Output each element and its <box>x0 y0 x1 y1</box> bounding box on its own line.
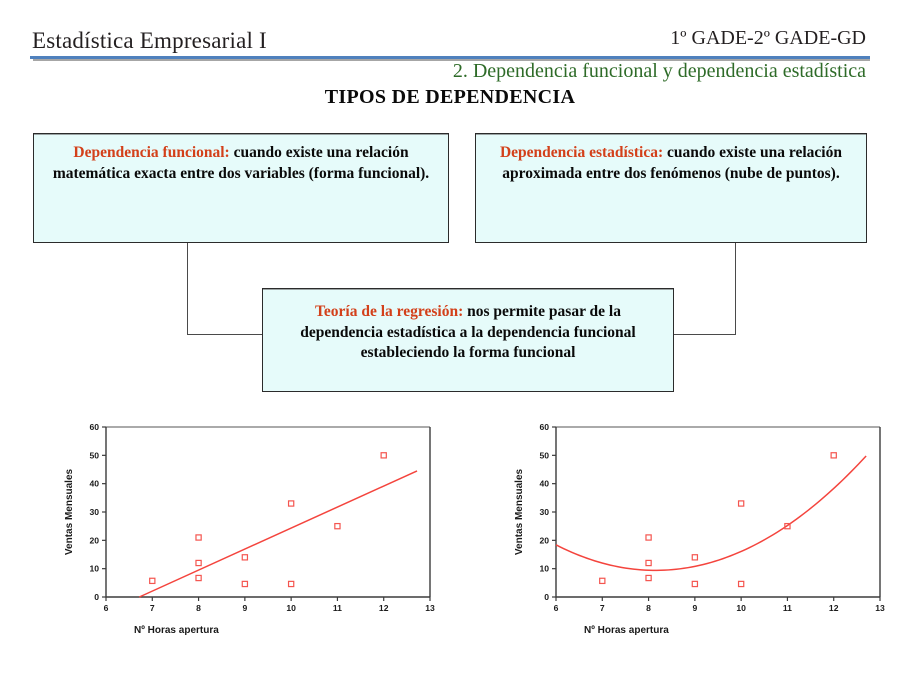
svg-text:60: 60 <box>539 422 549 432</box>
svg-text:11: 11 <box>333 603 342 613</box>
svg-text:Nº Horas apertura: Nº Horas apertura <box>584 625 669 636</box>
concept-box-statistical-lead: Dependencia estadística: <box>500 144 663 161</box>
svg-text:8: 8 <box>196 603 201 613</box>
svg-text:50: 50 <box>539 450 549 460</box>
svg-text:9: 9 <box>692 603 697 613</box>
svg-text:20: 20 <box>539 535 549 545</box>
svg-text:10: 10 <box>736 603 746 613</box>
connector-functional-vertical <box>187 243 188 335</box>
svg-text:7: 7 <box>600 603 605 613</box>
svg-text:40: 40 <box>89 479 99 489</box>
svg-text:7: 7 <box>150 603 155 613</box>
svg-text:10: 10 <box>539 564 549 574</box>
concept-box-statistical: Dependencia estadística: cuando existe u… <box>475 133 867 243</box>
concept-box-regression: Teoría de la regresión: nos permite pasa… <box>262 288 674 392</box>
svg-text:6: 6 <box>554 603 559 613</box>
connector-statistical-horizontal <box>673 334 736 335</box>
svg-text:10: 10 <box>286 603 296 613</box>
svg-text:Nº Horas apertura: Nº Horas apertura <box>134 625 219 636</box>
svg-text:40: 40 <box>539 479 549 489</box>
svg-text:8: 8 <box>646 603 651 613</box>
scatter-chart-linear: 0102030405060678910111213Nº Horas apertu… <box>38 415 438 640</box>
svg-text:10: 10 <box>89 564 99 574</box>
scatter-chart-quadratic: 0102030405060678910111213Nº Horas apertu… <box>488 415 888 640</box>
svg-text:30: 30 <box>89 507 99 517</box>
svg-text:50: 50 <box>89 450 99 460</box>
svg-text:12: 12 <box>379 603 389 613</box>
svg-text:0: 0 <box>94 592 99 602</box>
svg-text:6: 6 <box>104 603 109 613</box>
svg-text:60: 60 <box>89 422 99 432</box>
concept-box-functional: Dependencia funcional: cuando existe una… <box>33 133 449 243</box>
svg-text:12: 12 <box>829 603 839 613</box>
svg-text:30: 30 <box>539 507 549 517</box>
svg-text:20: 20 <box>89 535 99 545</box>
concept-box-functional-lead: Dependencia funcional: <box>73 144 229 161</box>
page-title: TIPOS DE DEPENDENCIA <box>0 86 900 109</box>
concept-box-regression-lead: Teoría de la regresión: <box>315 303 463 320</box>
section-subtitle: 2. Dependencia funcional y dependencia e… <box>453 60 866 83</box>
svg-text:0: 0 <box>544 592 549 602</box>
connector-statistical-vertical <box>735 243 736 335</box>
connector-functional-horizontal <box>187 334 263 335</box>
svg-text:13: 13 <box>425 603 435 613</box>
svg-text:11: 11 <box>783 603 792 613</box>
program-label: 1º GADE-2º GADE-GD <box>670 27 866 50</box>
svg-text:Ventas Mensuales: Ventas Mensuales <box>64 468 75 555</box>
svg-text:13: 13 <box>875 603 885 613</box>
svg-text:9: 9 <box>242 603 247 613</box>
slide: Estadística Empresarial I 1º GADE-2º GAD… <box>0 0 900 675</box>
course-title: Estadística Empresarial I <box>32 28 267 54</box>
svg-text:Ventas Mensuales: Ventas Mensuales <box>514 468 525 555</box>
